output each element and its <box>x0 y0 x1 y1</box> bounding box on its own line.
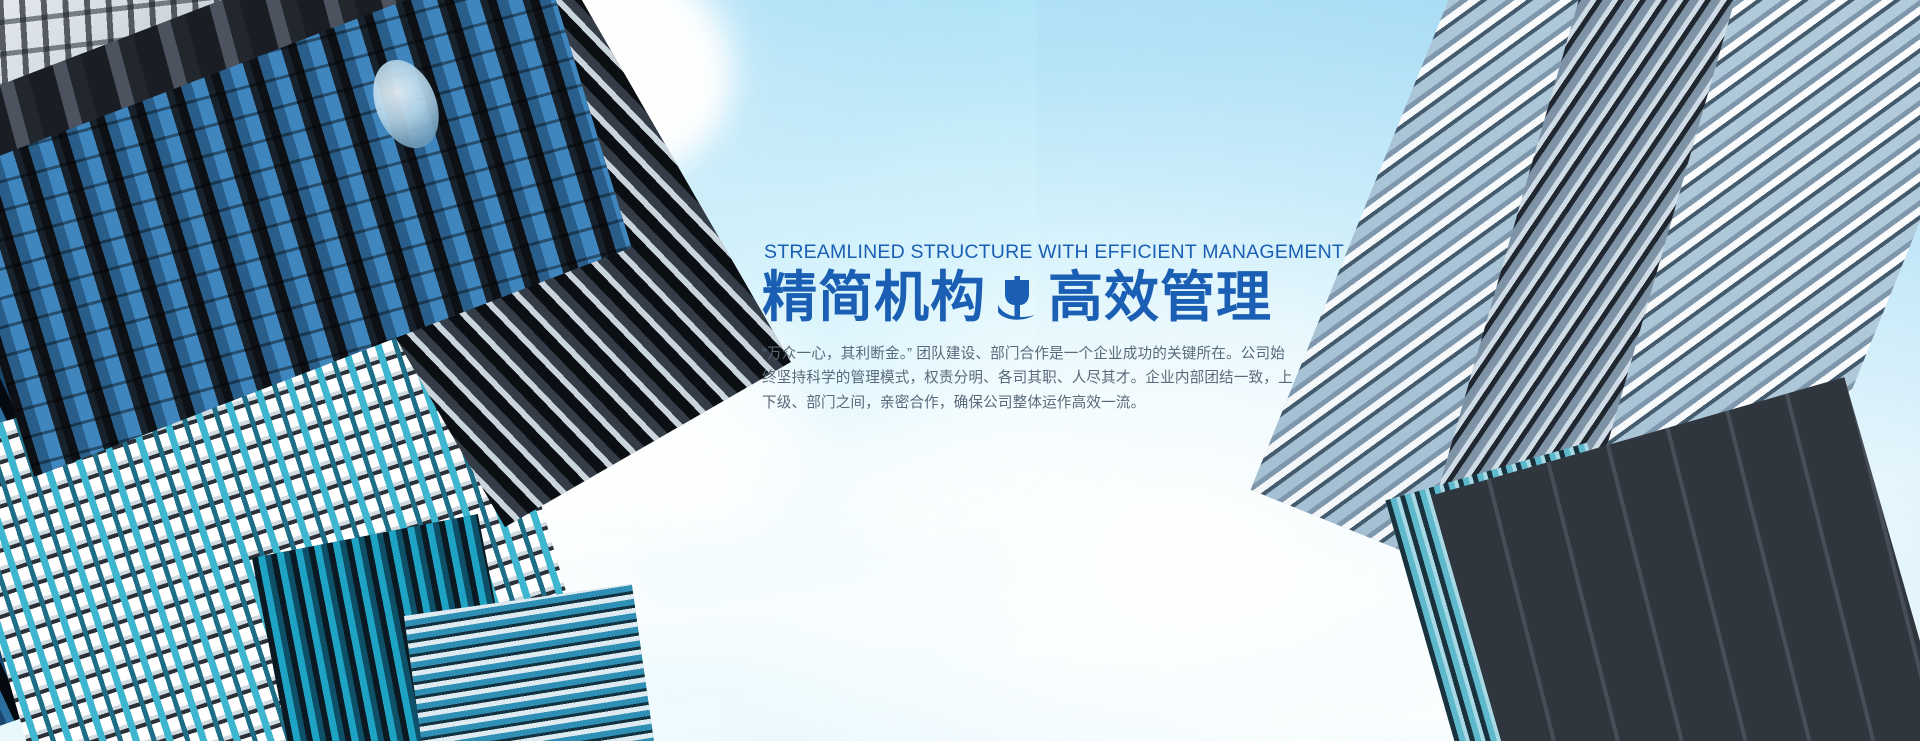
headline-left-text: 精简机构 <box>762 269 986 326</box>
banner-text-block: STREAMLINED STRUCTURE WITH EFFICIENT MAN… <box>762 243 1322 415</box>
headline-right-text: 高效管理 <box>1048 269 1272 326</box>
hero-banner: STREAMLINED STRUCTURE WITH EFFICIENT MAN… <box>0 0 1920 741</box>
banner-description: “万众一心，其利断金。” 团队建设、部门合作是一个企业成功的关键所在。公司始终坚… <box>762 342 1295 416</box>
company-psi-swoosh-logo-icon <box>995 274 1039 324</box>
banner-eyebrow-english: STREAMLINED STRUCTURE WITH EFFICIENT MAN… <box>764 243 1322 263</box>
page-title: 精简机构 高效管理 <box>762 269 1322 326</box>
